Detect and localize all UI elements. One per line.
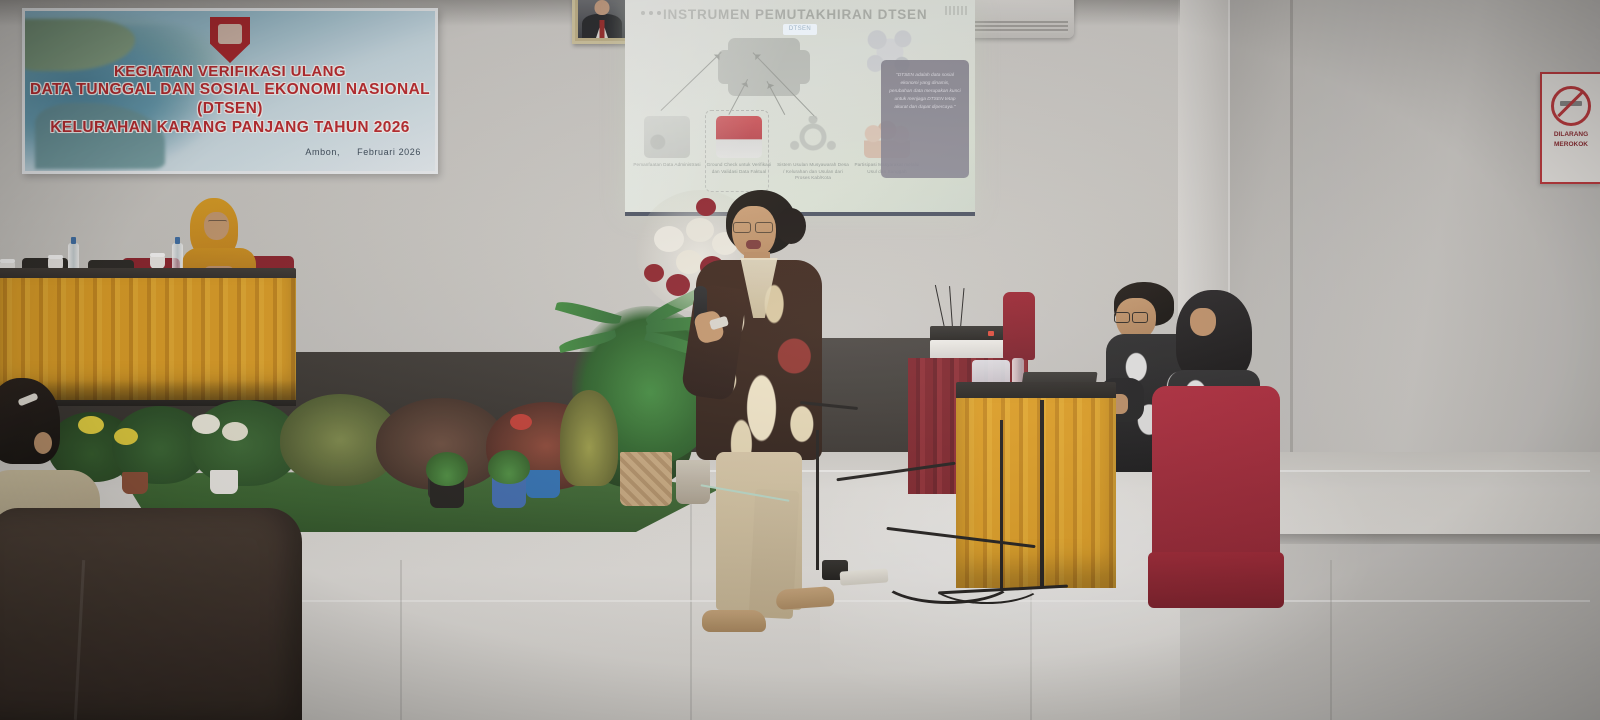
face xyxy=(1190,308,1216,336)
eyeglasses-icon xyxy=(732,222,774,231)
grass-tuft xyxy=(426,452,468,486)
event-banner: KEGIATAN VERIFIKASI ULANG DATA TUNGGAL D… xyxy=(22,8,438,174)
banner-month-year: Februari 2026 xyxy=(357,147,421,157)
terracotta-pot xyxy=(122,472,148,494)
banner-text-block: KEGIATAN VERIFIKASI ULANG DATA TUNGGAL D… xyxy=(25,63,435,138)
yellow-flower xyxy=(114,428,138,445)
red-rose xyxy=(666,274,690,296)
framed-portrait xyxy=(572,0,632,44)
no-smoking-sign: DILARANG MEROKOK xyxy=(1540,72,1600,184)
white-flower xyxy=(192,414,220,434)
banner-line-3: KELURAHAN KARANG PANJANG TAHUN 2026 xyxy=(25,119,435,138)
chair xyxy=(1003,292,1035,360)
banner-line-2: DATA TUNGGAL DAN SOSIAL EKONOMI NASIONAL… xyxy=(25,81,435,119)
power-led-icon xyxy=(988,331,994,336)
woven-basket-pot xyxy=(620,452,672,506)
banner-date: Ambon, Februari 2026 xyxy=(305,147,421,157)
white-flower xyxy=(222,422,248,441)
no-smoking-label: DILARANG MEROKOK xyxy=(1548,130,1594,150)
seminar-room-photo: KEGIATAN VERIFIKASI ULANG DATA TUNGGAL D… xyxy=(0,0,1600,720)
hair-bun xyxy=(776,208,806,244)
shoe xyxy=(702,610,766,632)
tile-line xyxy=(400,560,402,720)
no-smoking-icon xyxy=(1551,86,1591,126)
cable xyxy=(1040,400,1044,586)
grass-tuft xyxy=(488,450,530,484)
portrait-image xyxy=(578,0,626,38)
foreground-attendee xyxy=(0,378,98,528)
ac-vent xyxy=(968,21,1068,33)
slide-hub-label: DTSEN xyxy=(783,24,817,35)
cable xyxy=(816,430,845,570)
eyeglasses-icon xyxy=(1114,312,1148,321)
shoe xyxy=(775,586,834,610)
red-chair-seat xyxy=(1148,552,1284,608)
white-pot xyxy=(210,470,238,494)
cable xyxy=(1000,420,1003,590)
mouth xyxy=(746,240,761,249)
air-conditioner xyxy=(962,0,1074,38)
portrait-face xyxy=(595,0,610,15)
hair xyxy=(0,378,60,464)
white-rose xyxy=(654,226,684,252)
ear xyxy=(34,432,52,454)
cable-loop xyxy=(930,560,1044,604)
blue-pot xyxy=(526,470,560,498)
snake-plant xyxy=(560,390,618,486)
projection-screen: INSTRUMEN PEMUTAKHIRAN DTSEN DTSEN Peman… xyxy=(625,0,975,214)
seated-moderator xyxy=(180,198,258,276)
banner-line-1: KEGIATAN VERIFIKASI ULANG xyxy=(25,63,435,81)
banner-place: Ambon, xyxy=(305,147,340,157)
portrait-tie xyxy=(600,20,605,38)
sofa xyxy=(0,508,302,720)
red-flower xyxy=(510,414,532,430)
hijab xyxy=(1176,290,1252,382)
face xyxy=(204,212,229,240)
eyeglasses-icon xyxy=(208,220,227,226)
red-rose xyxy=(644,264,664,282)
